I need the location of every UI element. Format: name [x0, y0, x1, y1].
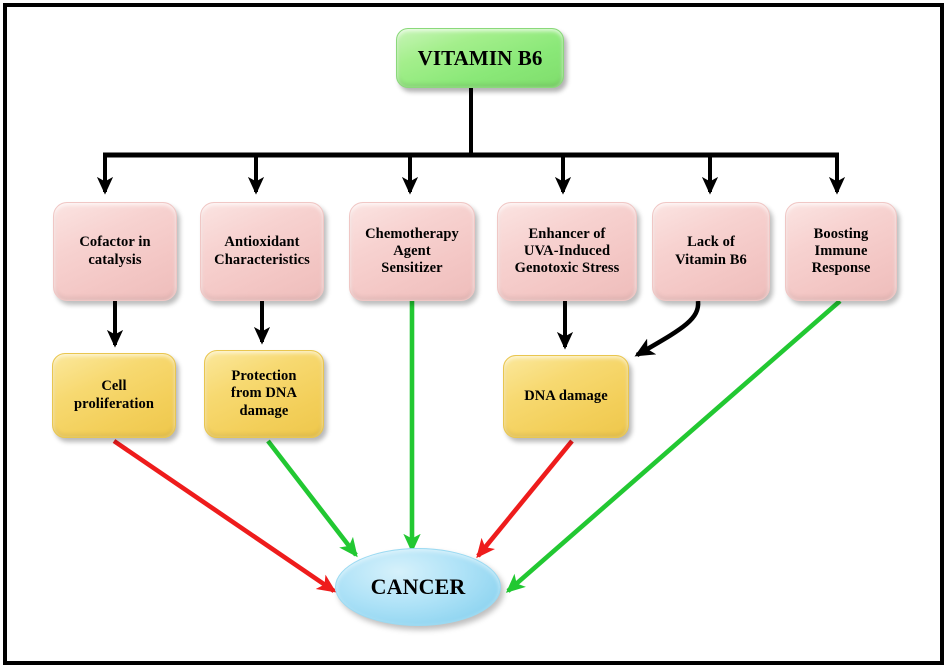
node-vitamin-b6[interactable]: VITAMIN B6 — [396, 28, 564, 88]
diagram-canvas: VITAMIN B6 Cofactor in catalysis Antioxi… — [0, 0, 947, 668]
node-antioxidant-characteristics-label: Antioxidant Characteristics — [214, 234, 310, 268]
node-cancer[interactable]: CANCER — [335, 548, 501, 626]
node-enhancer-uva-genotoxic-stress-label: Enhancer of UVA-Induced Genotoxic Stress — [515, 226, 620, 277]
node-cell-proliferation[interactable]: Cell proliferation — [52, 353, 176, 438]
node-lack-of-vitamin-b6[interactable]: Lack of Vitamin B6 — [652, 202, 770, 301]
node-chemotherapy-agent-sensitizer[interactable]: Chemotherapy Agent Sensitizer — [349, 202, 475, 301]
connector-protection-to-cancer — [268, 441, 356, 555]
node-antioxidant-characteristics[interactable]: Antioxidant Characteristics — [200, 202, 324, 301]
node-chemotherapy-agent-sensitizer-label: Chemotherapy Agent Sensitizer — [365, 226, 459, 277]
node-protection-from-dna-damage[interactable]: Protection from DNA damage — [204, 350, 324, 438]
node-boosting-immune-response-label: Boosting Immune Response — [812, 226, 871, 277]
node-cell-proliferation-label: Cell proliferation — [74, 378, 154, 412]
connector-dnadamage-to-cancer — [478, 441, 572, 556]
node-enhancer-uva-genotoxic-stress[interactable]: Enhancer of UVA-Induced Genotoxic Stress — [497, 202, 637, 301]
connector-cellprolif-to-cancer — [114, 441, 334, 591]
node-vitamin-b6-label: VITAMIN B6 — [418, 46, 543, 71]
node-dna-damage[interactable]: DNA damage — [503, 355, 629, 438]
node-cofactor-in-catalysis[interactable]: Cofactor in catalysis — [53, 202, 177, 301]
connector-immune-to-cancer — [508, 301, 840, 591]
node-boosting-immune-response[interactable]: Boosting Immune Response — [785, 202, 897, 301]
node-cofactor-in-catalysis-label: Cofactor in catalysis — [79, 234, 150, 268]
node-cancer-label: CANCER — [371, 574, 466, 600]
node-protection-from-dna-damage-label: Protection from DNA damage — [231, 368, 297, 419]
node-lack-of-vitamin-b6-label: Lack of Vitamin B6 — [675, 234, 747, 268]
connector-lack-to-dnadamage — [637, 301, 698, 355]
node-dna-damage-label: DNA damage — [524, 388, 608, 405]
